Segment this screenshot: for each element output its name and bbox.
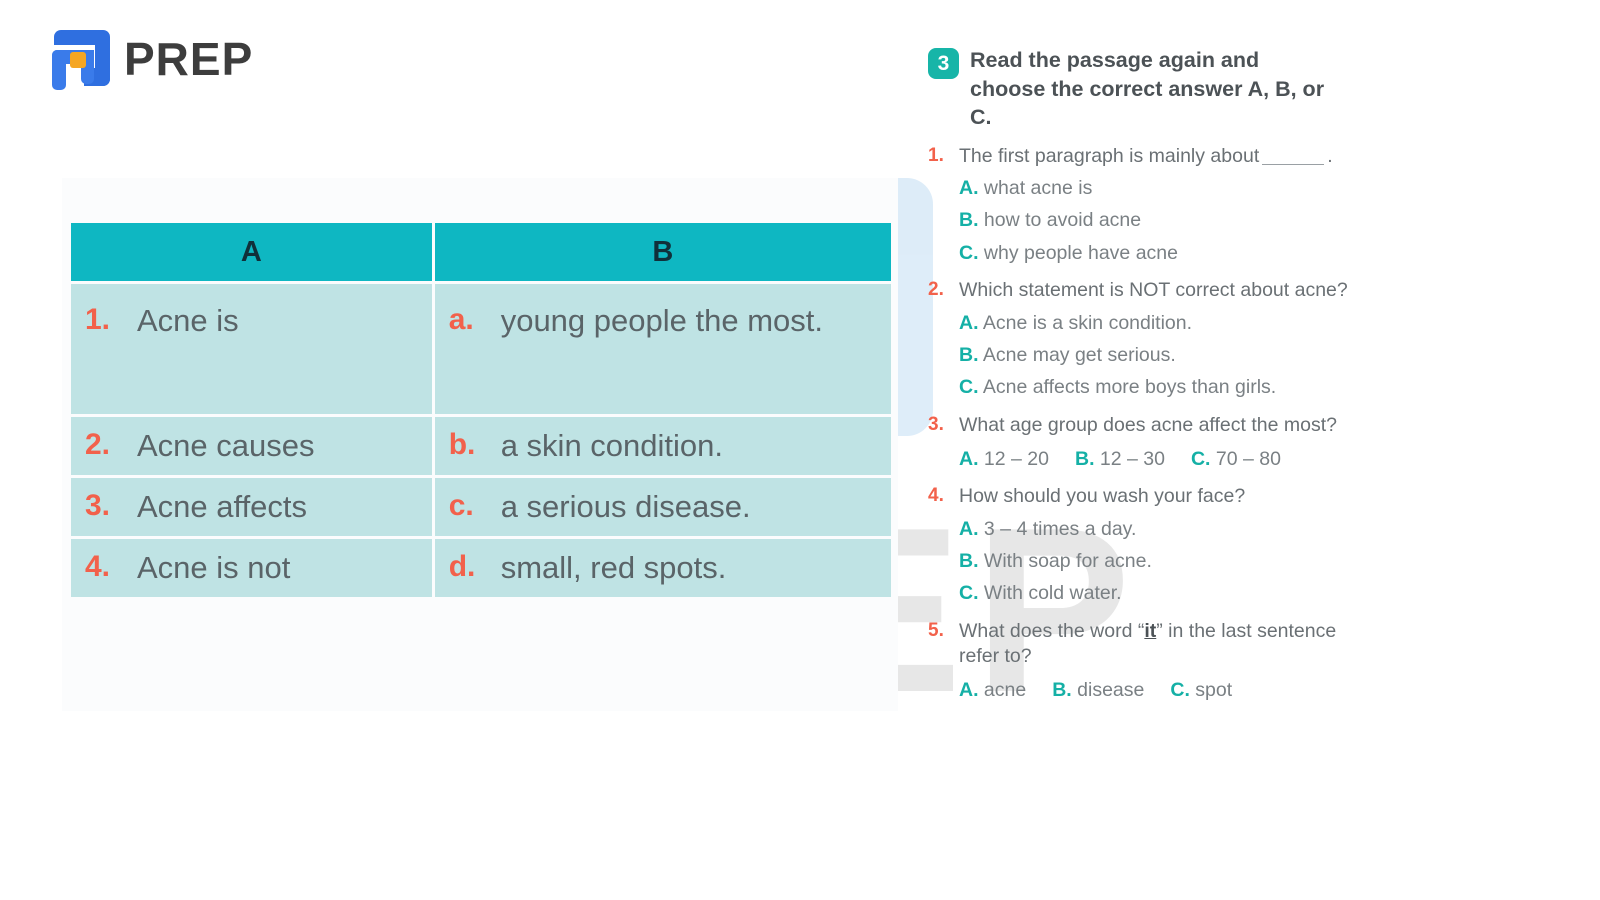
option-letter: C. [1170,679,1190,701]
row-index: b. [449,427,493,464]
option-letter: C. [959,582,979,604]
table-cell-a3[interactable]: 3. Acne affects [71,478,432,536]
question-1: 1. The first paragraph is mainly about. … [928,144,1378,266]
prep-logo-icon [48,28,110,90]
row-text: Acne causes [137,427,315,465]
column-header-a: A [71,223,432,281]
option-2-c[interactable]: C. Acne affects more boys than girls. [959,375,1378,400]
question-number: 3. [928,413,950,473]
table-row: 4. Acne is not d. small, red spots. [71,539,891,597]
option-letter: A. [959,448,979,470]
option-4-c[interactable]: C. With cold water. [959,581,1378,606]
question-tail: . [1327,145,1332,167]
option-text: 12 – 20 [984,448,1049,470]
row-index: 1. [85,302,129,339]
option-letter: B. [1075,448,1095,470]
question-text: What age group does acne affect the most… [959,413,1378,438]
row-index: 2. [85,427,129,464]
exercise-panel: 3 Read the passage again and choose the … [928,46,1378,704]
option-text: Acne may get serious. [983,344,1176,366]
option-text: 3 – 4 times a day. [984,518,1136,540]
table-cell-a4[interactable]: 4. Acne is not [71,539,432,597]
table-header-row: A B [71,223,891,281]
row-text: Acne affects [137,488,307,526]
table-cell-b3[interactable]: c. a serious disease. [435,478,891,536]
row-text: a skin condition. [501,427,723,465]
table-cell-b2[interactable]: b. a skin condition. [435,417,891,475]
question-4: 4. How should you wash your face? A. 3 –… [928,484,1378,606]
option-text: acne [984,679,1026,701]
option-1-c[interactable]: C. why people have acne [959,241,1378,266]
option-5-a[interactable]: A. acne [959,678,1026,703]
option-letter: B. [1052,679,1072,701]
quoted-word: it [1144,620,1156,642]
option-4-b[interactable]: B. With soap for acne. [959,549,1378,574]
matching-exercise-card: A B 1. Acne is a. young people the most. [62,178,898,711]
options-list-1: A. what acne is B. how to avoid acne C. … [959,176,1378,266]
row-index: d. [449,549,493,586]
table-cell-a1[interactable]: 1. Acne is [71,284,432,414]
option-1-a[interactable]: A. what acne is [959,176,1378,201]
option-letter: B. [959,209,979,231]
question-text: What does the word “it” in the last sent… [959,619,1378,670]
option-text: Acne affects more boys than girls. [983,376,1276,398]
question-text: How should you wash your face? [959,484,1378,509]
option-text: how to avoid acne [984,209,1141,231]
column-header-b: B [435,223,891,281]
option-5-b[interactable]: B. disease [1052,678,1144,703]
options-list-4: A. 3 – 4 times a day. B. With soap for a… [959,517,1378,607]
options-list-3: A. 12 – 20 B. 12 – 30 C. 70 – 80 [959,447,1378,472]
question-number: 4. [928,484,950,606]
option-2-a[interactable]: A. Acne is a skin condition. [959,311,1378,336]
row-index: 3. [85,488,129,525]
option-text: what acne is [984,177,1092,199]
exercise-heading: 3 Read the passage again and choose the … [928,46,1378,132]
option-letter: A. [959,518,979,540]
row-index: a. [449,302,493,339]
option-letter: B. [959,550,979,572]
question-3: 3. What age group does acne affect the m… [928,413,1378,473]
answer-blank[interactable] [1262,164,1324,165]
row-text: Acne is [137,302,239,340]
question-stem: What does the word [959,620,1138,642]
option-letter: A. [959,312,979,334]
table-cell-a2[interactable]: 2. Acne causes [71,417,432,475]
option-text: why people have acne [984,242,1178,264]
table-row: 3. Acne affects c. a serious disease. [71,478,891,536]
option-text: With soap for acne. [984,550,1152,572]
option-letter: C. [1191,448,1211,470]
options-list-2: A. Acne is a skin condition. B. Acne may… [959,311,1378,401]
row-index: 4. [85,549,129,586]
question-number: 1. [928,144,950,266]
option-letter: C. [959,376,979,398]
option-text: Acne is a skin condition. [983,312,1192,334]
row-text: young people the most. [501,302,823,340]
row-text: Acne is not [137,549,290,587]
option-3-a[interactable]: A. 12 – 20 [959,447,1049,472]
option-text: spot [1195,679,1232,701]
matching-table: A B 1. Acne is a. young people the most. [68,220,894,600]
row-text: a serious disease. [501,488,751,526]
question-text: The first paragraph is mainly about. [959,144,1378,169]
question-number: 5. [928,619,950,704]
option-2-b[interactable]: B. Acne may get serious. [959,343,1378,368]
option-5-c[interactable]: C. spot [1170,678,1232,703]
option-1-b[interactable]: B. how to avoid acne [959,208,1378,233]
option-letter: A. [959,679,979,701]
row-index: c. [449,488,493,525]
option-text: 70 – 80 [1216,448,1281,470]
question-stem: The first paragraph is mainly about [959,145,1259,167]
option-letter: A. [959,177,979,199]
row-text: small, red spots. [501,549,727,587]
table-cell-b1[interactable]: a. young people the most. [435,284,891,414]
logo-orange-square-icon [70,52,86,68]
exercise-number-badge: 3 [928,48,959,79]
option-text: 12 – 30 [1100,448,1165,470]
question-2: 2. Which statement is NOT correct about … [928,278,1378,400]
exercise-instruction: Read the passage again and choose the co… [970,46,1330,132]
table-row: 1. Acne is a. young people the most. [71,284,891,414]
question-text: Which statement is NOT correct about acn… [959,278,1378,303]
question-number: 2. [928,278,950,400]
option-letter: B. [959,344,979,366]
option-4-a[interactable]: A. 3 – 4 times a day. [959,517,1378,542]
table-row: 2. Acne causes b. a skin condition. [71,417,891,475]
option-text: With cold water. [984,582,1122,604]
question-5: 5. What does the word “it” in the last s… [928,619,1378,704]
option-letter: C. [959,242,979,264]
option-3-b[interactable]: B. 12 – 30 [1075,447,1165,472]
options-list-5: A. acne B. disease C. spot [959,678,1378,703]
brand-name: PREP [124,36,253,82]
brand-logo: PREP [48,28,253,90]
option-3-c[interactable]: C. 70 – 80 [1191,447,1281,472]
option-text: disease [1077,679,1144,701]
table-cell-b4[interactable]: d. small, red spots. [435,539,891,597]
